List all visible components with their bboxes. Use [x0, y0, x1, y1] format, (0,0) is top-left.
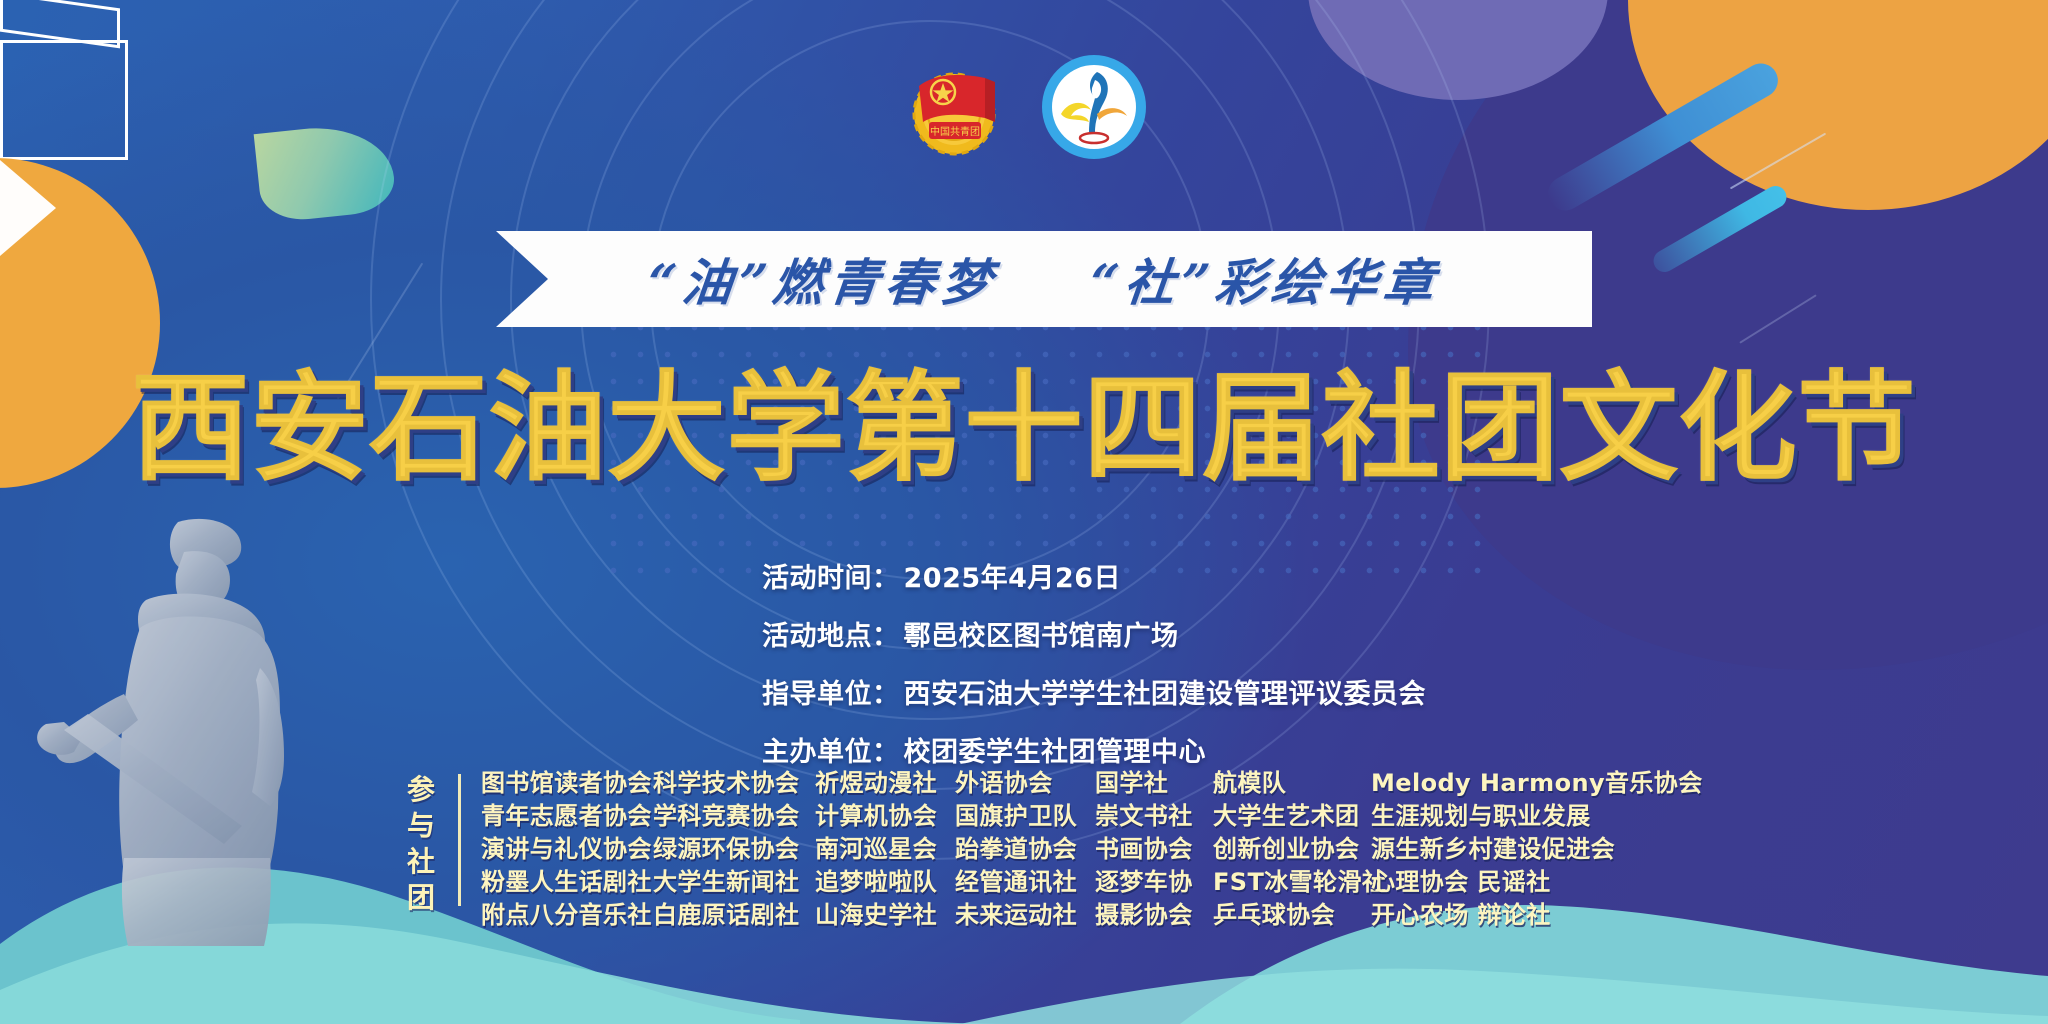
club-item: 计算机协会 — [815, 801, 955, 832]
detail-row: 活动地点：鄠邑校区图书馆南广场 — [762, 614, 1426, 653]
student-club-center-logo-icon — [1039, 52, 1149, 162]
club-item: 附点八分音乐社 — [481, 900, 653, 931]
detail-value: 校团委学生社团管理中心 — [904, 737, 1207, 768]
slogan-text: “油”燃青春梦 “社”彩绘华章 — [644, 243, 1443, 315]
clubs-divider — [458, 774, 461, 906]
club-item: 学科竞赛协会 — [653, 801, 815, 832]
detail-row: 主办单位：校团委学生社团管理中心 — [762, 730, 1426, 769]
main-title-wrap: 西安石油大学第十四届社团文化节 — [0, 368, 2048, 488]
club-item: 追梦啦啦队 — [815, 867, 955, 898]
club-item: 源生新乡村建设促进会 — [1371, 834, 1615, 865]
detail-row: 活动时间：2025年4月26日 — [762, 556, 1426, 595]
club-row: 粉墨人生话剧社 大学生新闻社 追梦啦啦队 经管通讯社 逐梦车协 FST冰雪轮滑社… — [481, 867, 1703, 898]
club-item: 演讲与礼仪协会 — [481, 834, 653, 865]
club-item: 青年志愿者协会 — [481, 801, 653, 832]
club-item: 经管通讯社 — [955, 867, 1095, 898]
detail-label: 活动时间： — [762, 563, 900, 594]
club-item: 山海史学社 — [815, 900, 955, 931]
detail-row: 指导单位：西安石油大学学生社团建设管理评议委员会 — [762, 672, 1426, 711]
club-item: 国旗护卫队 — [955, 801, 1095, 832]
club-item: 航模队 — [1213, 768, 1371, 799]
club-item: 书画协会 — [1095, 834, 1213, 865]
club-row: 附点八分音乐社 白鹿原话剧社 山海史学社 未来运动社 摄影协会 乒乓球协会 开心… — [481, 900, 1703, 931]
club-item: 科学技术协会 — [653, 768, 815, 799]
club-row: 青年志愿者协会 学科竞赛协会 计算机协会 国旗护卫队 崇文书社 大学生艺术团 生… — [481, 801, 1703, 832]
club-item: 摄影协会 — [1095, 900, 1213, 931]
club-item: 白鹿原话剧社 — [653, 900, 815, 931]
detail-label: 主办单位： — [762, 737, 900, 768]
youth-league-emblem-icon: 中国共青团 — [899, 52, 1009, 162]
club-item: 大学生新闻社 — [653, 867, 815, 898]
main-title: 西安石油大学第十四届社团文化节 — [131, 368, 1916, 488]
detail-value: 2025年4月26日 — [904, 563, 1122, 594]
worker-statue-image — [28, 508, 348, 953]
club-item: 生涯规划与职业发展 — [1371, 801, 1591, 832]
club-row: 图书馆读者协会 科学技术协会 祈煜动漫社 外语协会 国学社 航模队 Melody… — [481, 768, 1703, 799]
club-item: 未来运动社 — [955, 900, 1095, 931]
logo-row: 中国共青团 — [0, 52, 2048, 162]
clubs-grid: 图书馆读者协会 科学技术协会 祈煜动漫社 外语协会 国学社 航模队 Melody… — [481, 768, 1703, 931]
club-item: 开心农场 辩论社 — [1371, 900, 1551, 931]
club-item: 崇文书社 — [1095, 801, 1213, 832]
detail-label: 指导单位： — [762, 679, 900, 710]
svg-text:中国共青团: 中国共青团 — [930, 125, 980, 138]
slogan-ribbon: “油”燃青春梦 “社”彩绘华章 — [496, 231, 1592, 327]
participating-clubs-section: 参与社团 图书馆读者协会 科学技术协会 祈煜动漫社 外语协会 国学社 航模队 M… — [398, 768, 1703, 931]
club-item: 粉墨人生话剧社 — [481, 867, 653, 898]
club-item: 心理协会 民谣社 — [1371, 867, 1551, 898]
club-item: 乒乓球协会 — [1213, 900, 1371, 931]
detail-label: 活动地点： — [762, 621, 900, 652]
poster-canvas: 中国共青团 “油”燃青春梦 “社”彩绘华章 — [0, 0, 2048, 1024]
club-item: 大学生艺术团 — [1213, 801, 1371, 832]
club-item: 南河巡星会 — [815, 834, 955, 865]
club-item: 跆拳道协会 — [955, 834, 1095, 865]
event-details: 活动时间：2025年4月26日 活动地点：鄠邑校区图书馆南广场 指导单位：西安石… — [762, 556, 1426, 788]
club-item: 绿源环保协会 — [653, 834, 815, 865]
detail-value: 西安石油大学学生社团建设管理评议委员会 — [904, 679, 1427, 710]
slogan-right: “社”彩绘华章 — [1087, 253, 1443, 312]
slogan-left: “油”燃青春梦 — [645, 253, 1001, 312]
club-row: 演讲与礼仪协会 绿源环保协会 南河巡星会 跆拳道协会 书画协会 创新创业协会 源… — [481, 834, 1703, 865]
club-item: 国学社 — [1095, 768, 1213, 799]
club-item: Melody Harmony音乐协会 — [1371, 768, 1703, 799]
club-item: 祈煜动漫社 — [815, 768, 955, 799]
club-item: 逐梦车协 — [1095, 867, 1213, 898]
club-item: 创新创业协会 — [1213, 834, 1371, 865]
detail-value: 鄠邑校区图书馆南广场 — [904, 621, 1179, 652]
clubs-section-label: 参与社团 — [398, 772, 444, 916]
ribbon-left-chevron-icon — [0, 160, 56, 256]
club-item: FST冰雪轮滑社 — [1213, 867, 1371, 898]
club-item: 图书馆读者协会 — [481, 768, 653, 799]
club-item: 外语协会 — [955, 768, 1095, 799]
